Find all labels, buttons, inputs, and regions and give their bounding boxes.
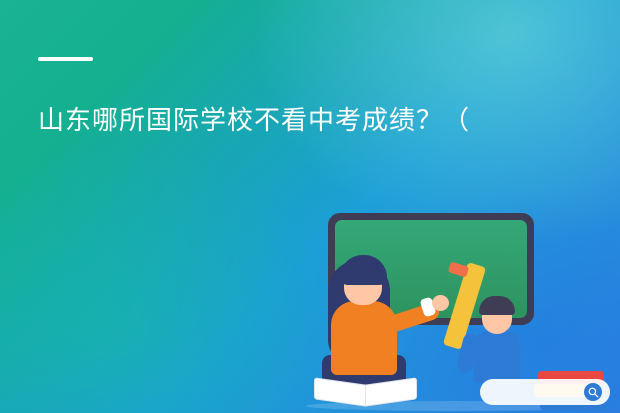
girl-body (331, 301, 397, 375)
banner-image: 山东哪所国际学校不看中考成绩？（ (0, 0, 620, 413)
boy-body (474, 331, 520, 383)
boy-hair (479, 296, 515, 315)
title-accent-rule (38, 57, 93, 61)
background-glow-left (0, 150, 340, 413)
search-button[interactable] (584, 383, 602, 401)
page-title: 山东哪所国际学校不看中考成绩？（ (38, 100, 598, 140)
search-bar[interactable] (480, 379, 610, 405)
search-icon (588, 387, 599, 398)
girl-hand (432, 295, 449, 311)
